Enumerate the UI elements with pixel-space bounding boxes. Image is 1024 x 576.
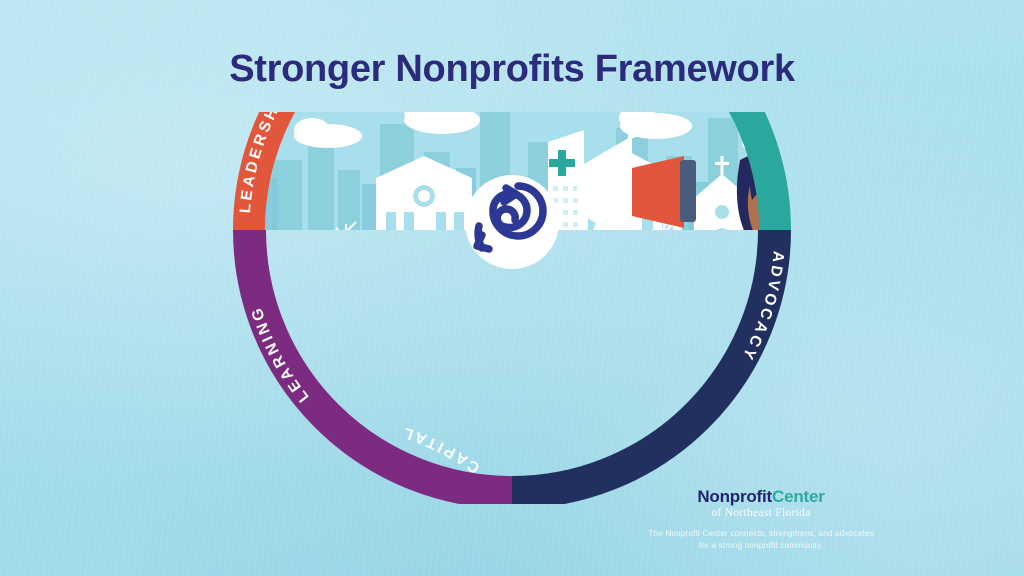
person-back-3 <box>348 259 410 406</box>
center-badge <box>465 175 559 269</box>
dollar-signs <box>524 272 578 352</box>
segment-arc-capital <box>512 230 775 493</box>
person-mid-green <box>468 304 538 466</box>
logo-name-first: Nonprofit <box>697 487 772 506</box>
framework-diagram: LEADERSHIP LEARNING CAPITAL ADVOCACY <box>180 112 844 504</box>
person-back-5 <box>402 266 458 404</box>
dashboard-card <box>448 290 528 344</box>
logo-wordmark: NonprofitCenter <box>646 488 876 506</box>
poster-canvas: Stronger Nonprofits Framework <box>0 0 1024 576</box>
logo-name-second: Center <box>772 487 825 506</box>
person-back-4 <box>446 285 494 404</box>
leadership-stars <box>266 236 485 317</box>
logo-tagline: The Nonprofit Center connects, strengthe… <box>646 528 876 552</box>
organization-logo: NonprofitCenter of Northeast Florida The… <box>646 488 876 552</box>
capital-person <box>567 308 590 393</box>
logo-subtitle: of Northeast Florida <box>646 507 876 519</box>
page-title: Stronger Nonprofits Framework <box>0 48 1024 91</box>
framework-scene <box>240 112 832 504</box>
